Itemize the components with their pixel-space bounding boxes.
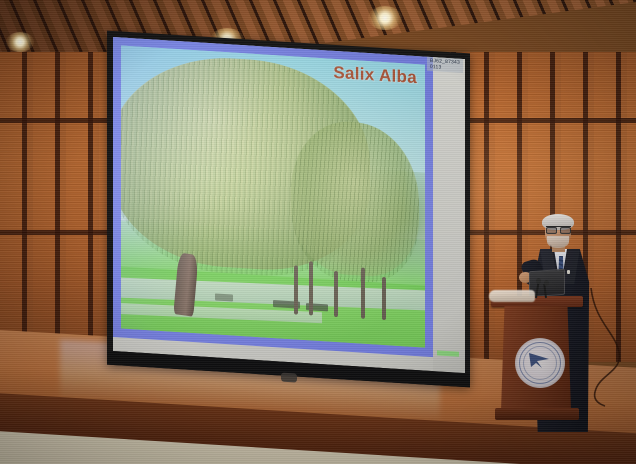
lectern-papers	[489, 290, 535, 302]
lectern-base	[495, 408, 579, 420]
lecture-hall-photo: Salix Alba BJ62_87343 0113	[0, 0, 636, 464]
lapel-pin	[567, 270, 570, 274]
photo-bench	[215, 293, 233, 301]
glasses-lens	[560, 227, 571, 234]
photo-tree-trunk	[334, 271, 338, 317]
microphone-head	[536, 278, 541, 284]
projection-screen: Salix Alba BJ62_87343 0113	[107, 31, 470, 388]
lectern	[497, 296, 575, 426]
institution-emblem	[515, 338, 565, 388]
screen-blank-area	[433, 57, 465, 373]
photo-tree-trunk	[361, 267, 365, 318]
emblem-arrow-icon	[527, 350, 553, 370]
lectern-body	[501, 306, 571, 411]
slide-photo: Salix Alba	[121, 45, 425, 347]
microphone-head	[544, 280, 549, 286]
photo-tree-trunk	[382, 277, 386, 320]
projector-osd: BJ62_87343 0113	[427, 57, 463, 73]
screen-surface: Salix Alba BJ62_87343 0113	[113, 37, 465, 373]
photo-tree-trunk	[309, 261, 313, 315]
speaker-glasses	[546, 226, 571, 232]
projected-slide: Salix Alba	[113, 37, 433, 357]
speaker-beard	[547, 236, 569, 248]
ceiling-downlight	[6, 32, 34, 52]
glasses-lens	[546, 227, 557, 234]
ceiling-downlight	[368, 6, 402, 30]
photo-tree-trunk	[294, 266, 298, 314]
screen-center-knob	[281, 373, 297, 383]
